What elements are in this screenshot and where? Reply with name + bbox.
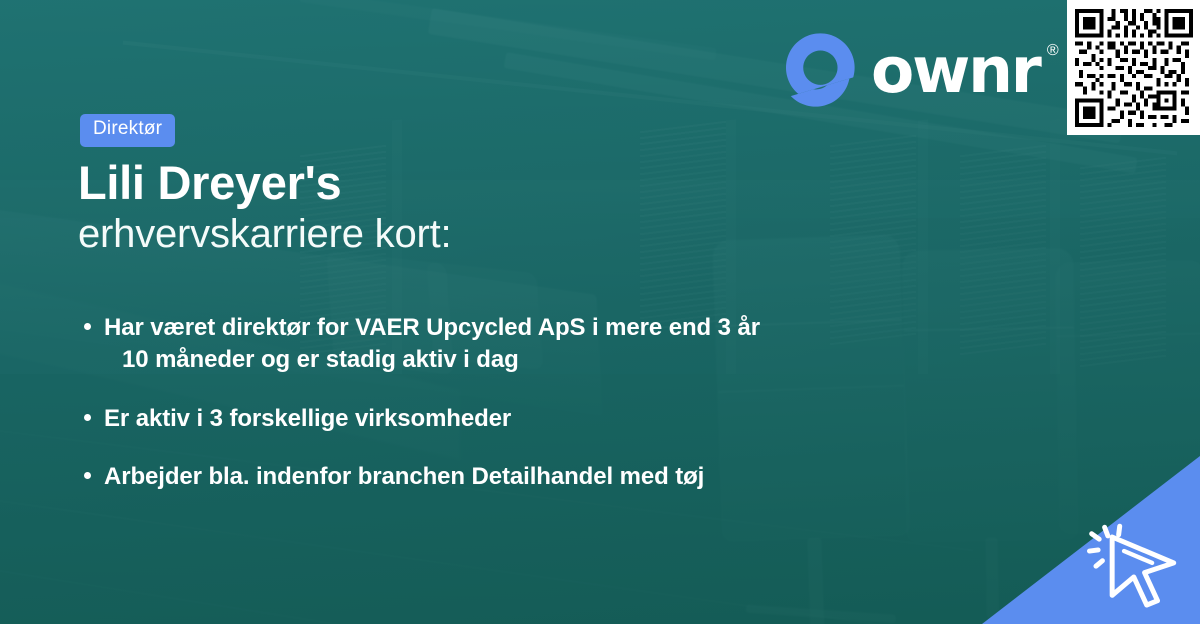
role-badge: Direktør: [80, 114, 175, 147]
career-card-banner: Direktør Lili Dreyer's erhvervskarriere …: [0, 0, 1200, 624]
list-item: Har været direktør for VAER Upcycled ApS…: [80, 312, 960, 377]
card-content: Direktør Lili Dreyer's erhvervskarriere …: [0, 0, 1200, 624]
list-item-line-1: Har været direktør for VAER Upcycled ApS…: [104, 314, 760, 341]
ownr-logo[interactable]: ownr ®: [779, 31, 1040, 109]
page-subtitle: erhvervskarriere kort:: [78, 212, 451, 256]
ownr-circle-logo-icon: [779, 31, 857, 109]
list-item: Er aktiv i 3 forskellige virksomheder: [80, 403, 960, 435]
ownr-wordmark: ownr ®: [871, 39, 1040, 102]
qr-code-icon: [1075, 9, 1193, 127]
bullet-dot-icon: [84, 323, 91, 330]
page-title: Lili Dreyer's: [78, 158, 341, 207]
bullet-dot-icon: [84, 414, 91, 421]
registered-trademark-icon: ®: [1047, 43, 1059, 59]
list-item-line-2: 10 måneder og er stadig aktiv i dag: [104, 344, 960, 376]
mouse-cursor-click-icon: [1082, 510, 1192, 618]
brand-name: ownr: [871, 34, 1040, 107]
career-facts-list: Har været direktør for VAER Upcycled ApS…: [80, 312, 960, 520]
list-item-line-1: Er aktiv i 3 forskellige virksomheder: [104, 405, 511, 432]
bullet-dot-icon: [84, 472, 91, 479]
list-item: Arbejder bla. indenfor branchen Detailha…: [80, 461, 960, 493]
list-item-line-1: Arbejder bla. indenfor branchen Detailha…: [104, 463, 704, 490]
qr-code-panel[interactable]: [1067, 0, 1200, 135]
